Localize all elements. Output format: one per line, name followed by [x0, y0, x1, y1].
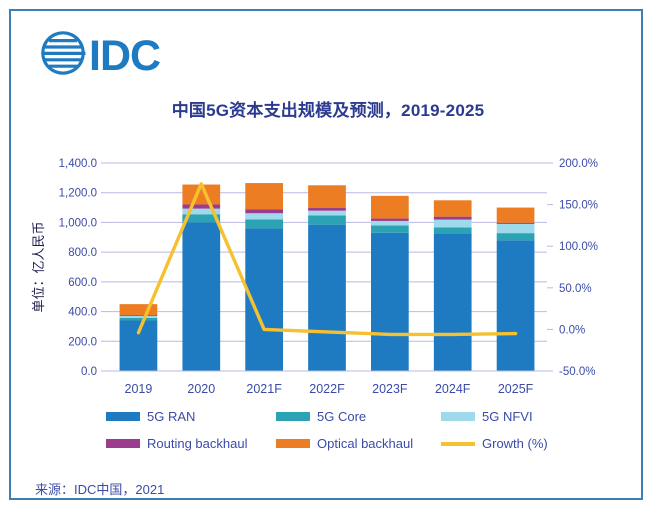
legend-item-5g-ran[interactable]: 5G RAN: [106, 409, 276, 424]
bar-segment: [371, 225, 409, 232]
svg-text:IDC: IDC: [89, 32, 160, 80]
legend-swatch-optical-backhaul: [276, 439, 310, 448]
idc-globe-logo-icon: IDC: [33, 29, 203, 81]
bar-segment: [434, 220, 472, 228]
bar-segment: [120, 318, 158, 321]
legend-row-1: 5G RAN 5G Core 5G NFVI: [106, 403, 576, 430]
bar-segment: [434, 217, 472, 220]
slide-canvas: IDC 中国5G资本支出规模及预测，2019-2025 0.0200.0400.…: [9, 9, 643, 500]
y2-axis-tick: 50.0%: [559, 283, 592, 295]
y-axis-tick: 600.0: [68, 277, 97, 289]
legend-item-5g-nfvi[interactable]: 5G NFVI: [441, 409, 533, 424]
bar-segment: [308, 215, 346, 224]
y2-axis-tick: 200.0%: [559, 158, 598, 170]
y-axis-tick: 0.0: [81, 366, 97, 378]
legend-item-growth[interactable]: Growth (%): [441, 436, 548, 451]
y-axis-tick: 800.0: [68, 247, 97, 259]
bar-segment: [182, 204, 220, 208]
bar-segment: [120, 320, 158, 371]
capex-stacked-bar-chart: 0.0200.0400.0600.0800.01,000.01,200.01,4…: [11, 129, 645, 394]
x-axis-label: 2023F: [372, 382, 408, 394]
page-title: 中国5G资本支出规模及预测，2019-2025: [11, 96, 645, 121]
legend-label-growth: Growth (%): [482, 436, 548, 451]
bar-segment: [308, 225, 346, 371]
bar-segment: [120, 315, 158, 316]
bar-segment: [434, 200, 472, 216]
x-axis-label: 2019: [125, 382, 153, 394]
y2-axis-tick: -50.0%: [559, 366, 595, 378]
bar-segment: [308, 211, 346, 216]
y2-axis-tick: 150.0%: [559, 200, 598, 212]
bar-segment: [497, 224, 535, 233]
x-axis-label: 2024F: [435, 382, 471, 394]
legend-item-routing-backhaul[interactable]: Routing backhaul: [106, 436, 276, 451]
legend-label-5g-core: 5G Core: [317, 409, 366, 424]
legend-swatch-5g-core: [276, 412, 310, 421]
bar-segment: [245, 183, 283, 209]
legend-label-optical-backhaul: Optical backhaul: [317, 436, 413, 451]
y-axis-title: 单位：亿人民币: [31, 221, 46, 312]
legend-label-routing-backhaul: Routing backhaul: [147, 436, 247, 451]
legend-label-5g-nfvi: 5G NFVI: [482, 409, 533, 424]
y2-axis-tick: 0.0%: [559, 324, 585, 336]
bar-segment: [182, 222, 220, 371]
legend-row-2: Routing backhaul Optical backhaul Growth…: [106, 430, 576, 457]
bar-segment: [371, 219, 409, 221]
bar-segment: [308, 208, 346, 211]
bar-segment: [308, 185, 346, 208]
y-axis-tick: 1,000.0: [59, 217, 97, 229]
bar-segment: [497, 233, 535, 240]
bar-segment: [245, 213, 283, 219]
legend-label-5g-ran: 5G RAN: [147, 409, 195, 424]
y-axis-tick: 1,200.0: [59, 188, 97, 200]
bar-segment: [245, 219, 283, 228]
legend-item-optical-backhaul[interactable]: Optical backhaul: [276, 436, 441, 451]
source-note: 来源：IDC中国，2021: [35, 479, 164, 498]
y-axis-tick: 400.0: [68, 307, 97, 319]
chart-legend: 5G RAN 5G Core 5G NFVI Routing backhaul …: [106, 403, 576, 461]
legend-item-5g-core[interactable]: 5G Core: [276, 409, 441, 424]
legend-swatch-5g-nfvi: [441, 412, 475, 421]
x-axis-label: 2020: [187, 382, 215, 394]
y-axis-tick: 1,400.0: [59, 158, 97, 170]
bar-segment: [371, 221, 409, 225]
legend-swatch-routing-backhaul: [106, 439, 140, 448]
x-axis-label: 2022F: [309, 382, 345, 394]
bar-segment: [434, 227, 472, 233]
bar-segment: [497, 240, 535, 371]
y-axis-tick: 200.0: [68, 336, 97, 348]
x-axis-label: 2025F: [498, 382, 534, 394]
x-axis-label: 2021F: [246, 382, 282, 394]
y2-axis-tick: 100.0%: [559, 241, 598, 253]
bar-segment: [245, 210, 283, 214]
legend-swatch-growth: [441, 442, 475, 446]
bar-segment: [434, 234, 472, 371]
bar-segment: [497, 223, 535, 224]
bar-segment: [371, 233, 409, 371]
bar-segment: [120, 316, 158, 318]
bar-segment: [497, 208, 535, 223]
legend-swatch-5g-ran: [106, 412, 140, 421]
bar-segment: [371, 196, 409, 219]
